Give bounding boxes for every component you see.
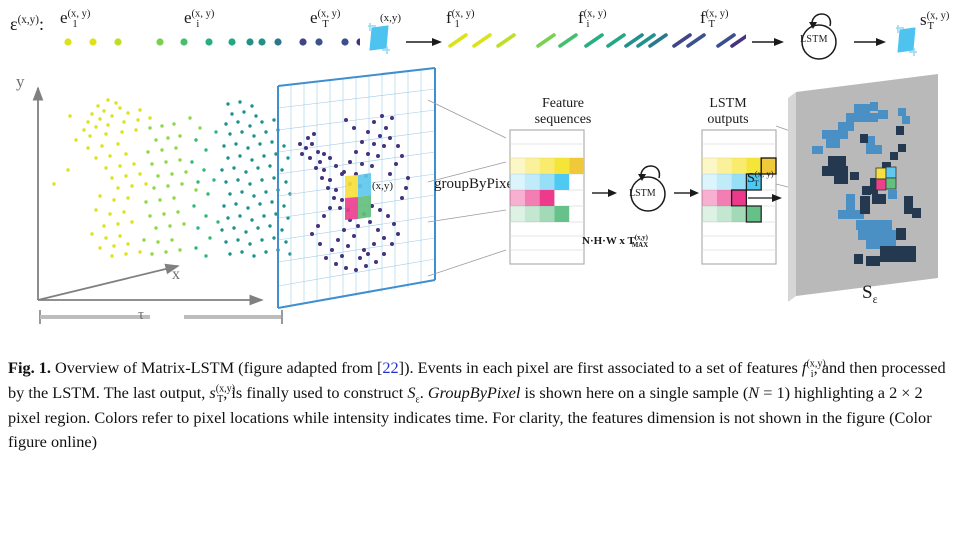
caption-reference[interactable]: 22 [382, 358, 398, 377]
caption-text-1: Overview of Matrix-LSTM (figure adapted … [51, 358, 382, 377]
lstm-cell-mid-label: LSTM [629, 188, 656, 199]
epsilon-events-symbol: ε(x,y): [10, 14, 44, 35]
event-dot-sequence [60, 32, 360, 52]
caption-label: Fig. 1. [8, 358, 51, 377]
x-axis [38, 266, 178, 300]
output-row-pink [702, 190, 746, 206]
surface-side [788, 92, 796, 302]
pixel-square-icon [362, 20, 402, 60]
event-last-label: e(x, y)T [310, 8, 329, 28]
caption-groupbypixel: GroupByPixel [428, 383, 521, 402]
figure-caption: Fig. 1. Overview of Matrix-LSTM (figure … [8, 356, 952, 455]
arrow-lstm-to-state [854, 34, 888, 50]
event-first-label: e(x, y)1 [60, 8, 78, 28]
feature-first-label: f(x, y)1 [446, 8, 460, 28]
caption-N-eq: = 1 [759, 383, 784, 402]
arrow-features-to-lstm [752, 34, 786, 50]
y-axis-label: y [16, 72, 25, 92]
state-square-icon [892, 22, 922, 60]
feature-row-green [510, 206, 569, 222]
caption-text-4: , is finally used to construct [223, 383, 407, 402]
state-T-label: s(x, y)T [920, 10, 934, 30]
feature-row-yellow [510, 158, 584, 174]
surface-highlight-2x2 [876, 167, 896, 190]
feature-mid-label: f(x, y)i [578, 8, 589, 28]
feature-row-cyan [510, 174, 569, 190]
x-axis-label: x [172, 266, 180, 284]
feature-last-label: f(x, y)T [700, 8, 715, 28]
grid-pixel-coord-label: (x,y) [372, 180, 393, 192]
feature-sequences-title: Feature sequences [523, 96, 603, 128]
arrow-to-lstm-mid [592, 186, 618, 200]
arrow-events-to-features [404, 34, 444, 50]
caption-N-symbol: N [748, 383, 759, 402]
tensor-dims-label: N·H·W x T(x,y)MAX [582, 235, 648, 247]
output-row-green [702, 206, 761, 222]
arrow-from-lstm-mid [674, 186, 700, 200]
caption-text-5: . [420, 383, 428, 402]
feature-row-pink [510, 190, 554, 206]
highlight-2x2-region [345, 173, 371, 220]
lstm-cell-top-label: LSTM [800, 34, 828, 45]
event-mid-label: e(x, y)i [184, 8, 199, 28]
caption-text-2: ]). Events in each pixel are first assoc… [399, 358, 802, 377]
tau-label: τ [138, 307, 144, 324]
figure-panel: ε(x,y): e(x, y)1 e(x, y)i e(x, y)T (x,y) [0, 0, 960, 350]
output-surface-grid [782, 68, 960, 318]
feature-tick-sequence [446, 30, 746, 52]
lstm-outputs-title: LSTM outputs [688, 96, 768, 128]
group-by-pixel-label: groupByPixel [434, 176, 517, 193]
pixel-square-label: (x,y) [380, 12, 401, 24]
output-surface-label: Sε [862, 282, 878, 304]
feature-sequences-table [508, 128, 588, 268]
caption-text-6: is shown here on a single sample ( [520, 383, 748, 402]
st-output-label: S(x, y)T [747, 171, 759, 187]
